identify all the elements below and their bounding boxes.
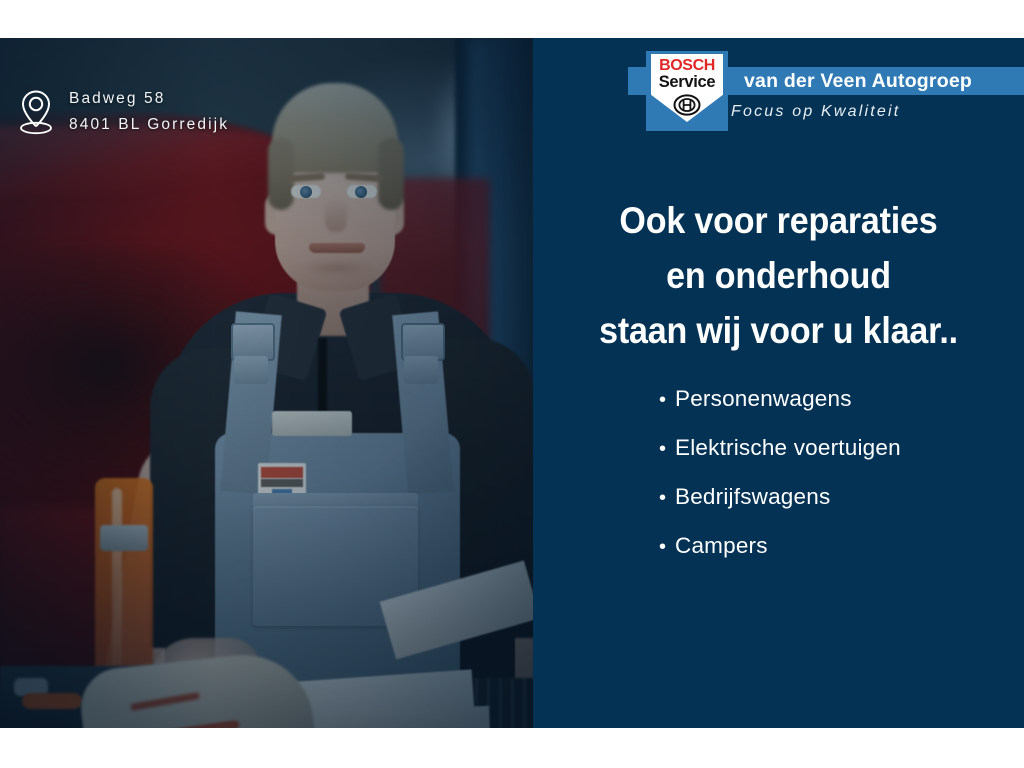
address-lines: Badweg 58 8401 BL Gorredijk: [69, 86, 229, 138]
banner-stage: Badweg 58 8401 BL Gorredijk BOSCH Servic…: [0, 38, 1024, 728]
photo-vignette: [0, 38, 533, 728]
headline: Ook voor reparaties en onderhoud staan w…: [553, 193, 1005, 358]
company-name: van der Veen Autogroep: [744, 66, 1024, 96]
mechanic-photo: Badweg 58 8401 BL Gorredijk: [0, 38, 533, 728]
list-item: • Bedrijfswagens: [533, 484, 1024, 533]
bosch-wordmark: BOSCH: [651, 58, 723, 74]
list-item-label: Elektrische voertuigen: [675, 435, 901, 461]
list-item-label: Bedrijfswagens: [675, 484, 830, 510]
promo-banner: Badweg 58 8401 BL Gorredijk BOSCH Servic…: [0, 0, 1024, 768]
list-item: • Campers: [533, 533, 1024, 582]
list-item-label: Personenwagens: [675, 386, 852, 412]
list-item: • Elektrische voertuigen: [533, 435, 1024, 484]
headline-line-3: staan wij voor u klaar..: [553, 303, 1005, 358]
location-pin-icon: [18, 89, 54, 135]
company-tagline: Focus op Kwaliteit: [731, 103, 900, 121]
info-panel: BOSCH Service van der Veen Autogroep Foc…: [533, 38, 1024, 728]
bosch-armature-icon: [673, 94, 701, 116]
list-item: • Personenwagens: [533, 386, 1024, 435]
bullet-dot-icon: •: [659, 488, 666, 508]
headline-line-1: Ook voor reparaties: [553, 193, 1005, 248]
headline-line-2: en onderhoud: [553, 248, 1005, 303]
bullet-dot-icon: •: [659, 390, 666, 410]
bosch-service-wordmark: Service: [651, 74, 723, 91]
bullet-dot-icon: •: [659, 537, 666, 557]
address-block: Badweg 58 8401 BL Gorredijk: [18, 86, 229, 138]
list-item-label: Campers: [675, 533, 768, 559]
address-line-1: Badweg 58: [69, 86, 229, 112]
address-line-2: 8401 BL Gorredijk: [69, 112, 229, 138]
bullet-dot-icon: •: [659, 439, 666, 459]
bosch-service-logo: BOSCH Service: [646, 51, 728, 131]
services-list: • Personenwagens • Elektrische voertuige…: [533, 386, 1024, 582]
